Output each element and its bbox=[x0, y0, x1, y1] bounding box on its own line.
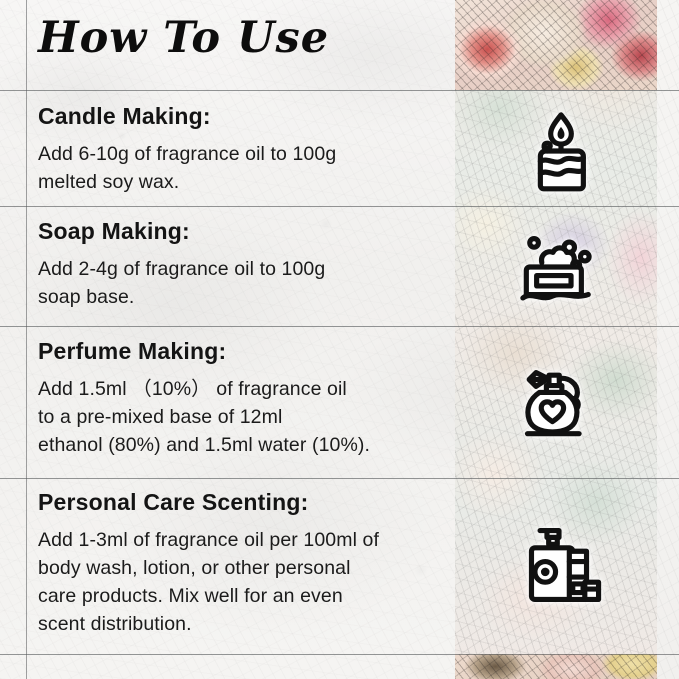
personal-care-products-icon bbox=[516, 522, 602, 608]
divider-rule-4 bbox=[0, 478, 679, 479]
section-candle-making: Candle Making: Add 6-10g of fragrance oi… bbox=[38, 103, 438, 196]
soap-bar-icon bbox=[516, 224, 602, 310]
section-body: Add 2-4g of fragrance oil to 100g soap b… bbox=[38, 255, 438, 311]
section-perfume-making: Perfume Making: Add 1.5ml （10%） of fragr… bbox=[38, 338, 438, 459]
floral-top-line-art bbox=[455, 0, 657, 90]
section-personal-care-scenting: Personal Care Scenting: Add 1-3ml of fra… bbox=[38, 489, 438, 638]
candle-icon bbox=[518, 108, 604, 194]
section-body: Add 6-10g of fragrance oil to 100g melte… bbox=[38, 140, 438, 196]
how-to-use-poster: How To Use Candle Making: Add 6-10g of f… bbox=[0, 0, 679, 679]
section-heading: Soap Making: bbox=[38, 218, 438, 245]
section-soap-making: Soap Making: Add 2-4g of fragrance oil t… bbox=[38, 218, 438, 311]
right-edge-strip bbox=[657, 0, 679, 679]
section-heading: Personal Care Scenting: bbox=[38, 489, 438, 516]
section-body: Add 1.5ml （10%） of fragrance oil to a pr… bbox=[38, 375, 438, 459]
floral-bottom-line-art bbox=[455, 654, 657, 679]
section-heading: Perfume Making: bbox=[38, 338, 438, 365]
section-body: Add 1-3ml of fragrance oil per 100ml of … bbox=[38, 526, 438, 638]
divider-rule-1 bbox=[0, 90, 679, 91]
floral-top-band bbox=[455, 0, 657, 90]
left-vertical-rule bbox=[26, 0, 27, 679]
divider-rule-2 bbox=[0, 206, 679, 207]
perfume-bottle-icon bbox=[512, 358, 598, 444]
floral-bottom-band bbox=[455, 654, 657, 679]
page-title: How To Use bbox=[38, 13, 329, 63]
divider-rule-5 bbox=[0, 654, 679, 655]
divider-rule-3 bbox=[0, 326, 679, 327]
section-heading: Candle Making: bbox=[38, 103, 438, 130]
